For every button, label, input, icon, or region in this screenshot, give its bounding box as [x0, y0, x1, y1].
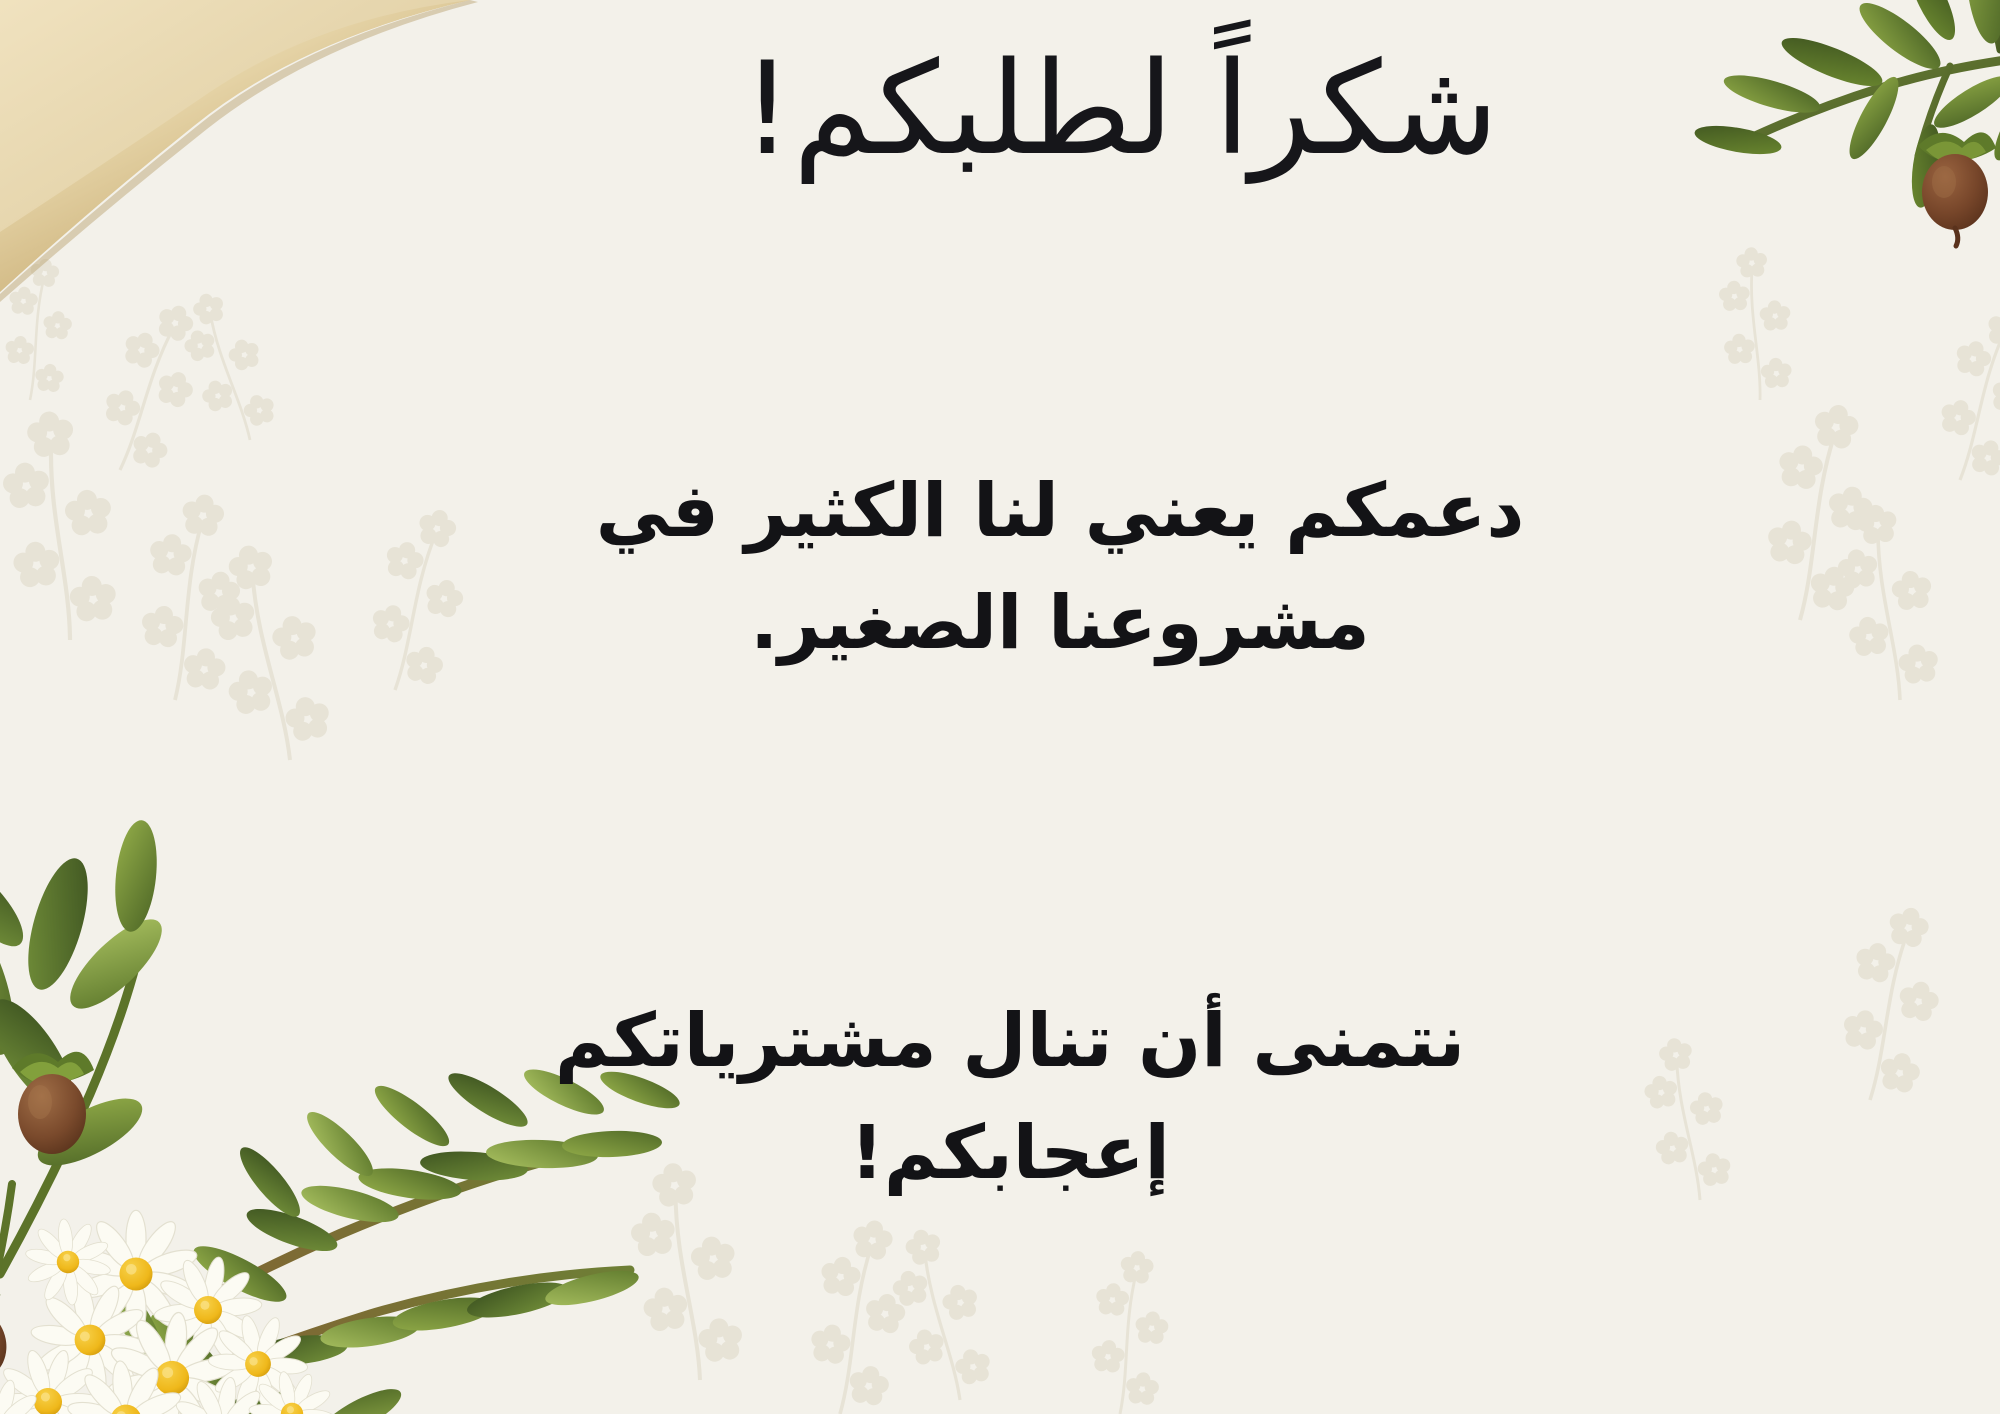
page-title: شكراً لطلبكم! [580, 30, 1660, 190]
thank-you-card: شكراً لطلبكم! دعمكم يعني لنا الكثير في م… [0, 0, 2000, 1414]
body-paragraph-two: نتمنى أن تنال مشترياتكم إعجابكم! [490, 985, 1530, 1210]
body-paragraph-one: دعمكم يعني لنا الكثير في مشروعنا الصغير. [550, 455, 1570, 680]
card-text-content: شكراً لطلبكم! دعمكم يعني لنا الكثير في م… [0, 0, 2000, 1414]
